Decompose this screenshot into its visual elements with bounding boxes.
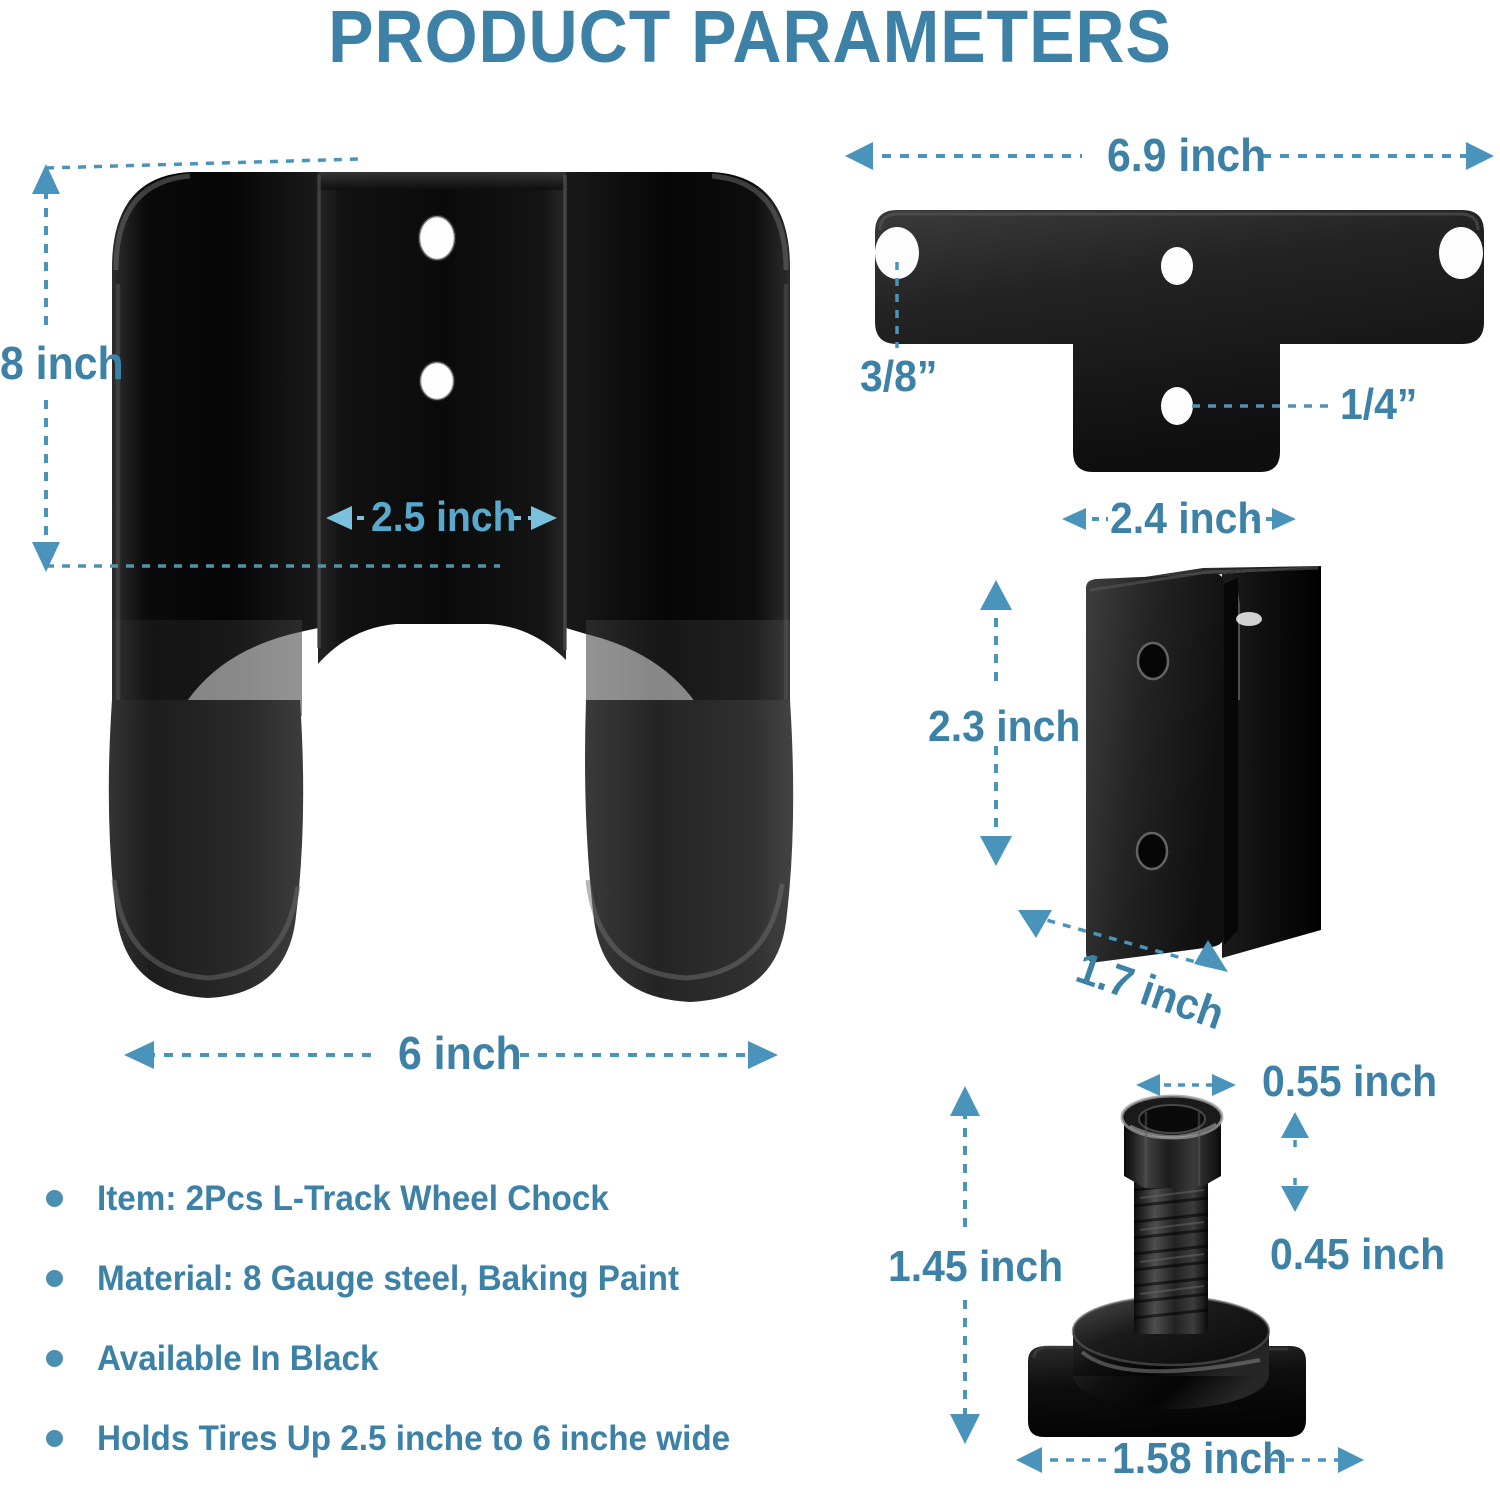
- bullet-icon: [46, 1190, 63, 1207]
- list-item: Material: 8 Gauge steel, Baking Paint: [46, 1238, 906, 1318]
- infographic-canvas: PRODUCT PARAMETERS: [0, 0, 1500, 1490]
- arrow-23inch-down: [980, 836, 1012, 866]
- arrow-25inch-right: [531, 506, 557, 530]
- bolt-washer-top: [1073, 1297, 1269, 1365]
- u-clamp-illustration: [1086, 566, 1321, 962]
- page-title: PRODUCT PARAMETERS: [60, 0, 1440, 79]
- list-item: Holds Tires Up 2.5 inche to 6 inche wide: [46, 1398, 906, 1478]
- arrow-158inch-left: [1016, 1447, 1042, 1473]
- list-item: Item: 2Pcs L-Track Wheel Chock: [46, 1158, 906, 1238]
- clamp-hole-lower: [1137, 833, 1167, 869]
- dim-label-chock-overall-width: 6 inch: [398, 1030, 522, 1076]
- bullet-icon: [46, 1270, 63, 1287]
- arrow-17inch-left: [1018, 910, 1052, 938]
- spec-item-text: Material: 8 Gauge steel, Baking Paint: [97, 1261, 679, 1296]
- dim-label-clamp-height: 2.3 inch: [928, 705, 1080, 749]
- clamp-back-wall: [1222, 566, 1321, 958]
- arrow-158inch-right: [1338, 1447, 1364, 1473]
- arrow-6inch-right: [748, 1041, 778, 1069]
- clamp-front-face: [1086, 574, 1224, 962]
- arrow-24inch-left: [1062, 508, 1086, 530]
- t-bracket-hole-center: [1161, 247, 1193, 285]
- dim-label-tbracket-large-hole: 3/8”: [860, 355, 937, 399]
- arrow-045inch-down: [1281, 1186, 1309, 1212]
- clamp-hole-upper: [1138, 643, 1168, 679]
- arrow-145inch-down: [950, 1414, 980, 1444]
- dim-label-bolt-base-width: 1.58 inch: [1112, 1437, 1287, 1481]
- t-bracket-body: [875, 210, 1484, 472]
- dim-label-clamp-depth: 1.7 inch: [1071, 946, 1229, 1037]
- bolt-nut-collar: [1122, 1096, 1222, 1138]
- arrow-24inch-right: [1272, 508, 1296, 530]
- arrow-17inch-right: [1194, 940, 1228, 972]
- dim-label-bolt-nut-width: 0.55 inch: [1262, 1060, 1437, 1104]
- bullet-icon: [46, 1350, 63, 1367]
- t-bracket-hole-stem: [1161, 387, 1193, 425]
- arrow-055inch-right: [1212, 1074, 1236, 1096]
- list-item: Available In Black: [46, 1318, 906, 1398]
- arrow-055inch-left: [1136, 1074, 1160, 1096]
- dim-label-tbracket-small-hole: 1/4”: [1340, 383, 1417, 427]
- chock-hole-top: [419, 216, 455, 260]
- dim-label-tbracket-stem-width: 2.4 inch: [1110, 497, 1262, 541]
- bolt-base-plate: [1028, 1346, 1306, 1437]
- bolt-hex-nut: [1124, 1110, 1221, 1188]
- dim-label-bolt-total-height: 1.45 inch: [888, 1245, 1063, 1289]
- spec-item-text: Available In Black: [97, 1341, 379, 1376]
- spec-list: Item: 2Pcs L-Track Wheel Chock Material:…: [46, 1158, 906, 1478]
- spec-item-text: Holds Tires Up 2.5 inche to 6 inche wide: [97, 1421, 730, 1456]
- dim-label-tbracket-width: 6.9 inch: [1107, 132, 1266, 178]
- dim-label-chock-channel-width: 2.5 inch: [371, 496, 516, 538]
- bullet-icon: [46, 1430, 63, 1447]
- arrow-25inch-left: [326, 506, 352, 530]
- dim-label-chock-height: 8 inch: [0, 340, 124, 386]
- arrow-045inch-up: [1281, 1112, 1309, 1138]
- bolt-washer-bottom: [1073, 1341, 1269, 1409]
- t-bracket-hole-left: [875, 227, 919, 279]
- t-bracket-hole-right: [1439, 227, 1483, 279]
- wheel-chock-illustration: [109, 172, 793, 1018]
- arrow-145inch-up: [950, 1086, 980, 1116]
- arrow-8inch-down: [32, 542, 60, 572]
- stud-bolt-illustration: [1028, 1096, 1306, 1437]
- arrow-23inch-up: [980, 580, 1012, 610]
- chock-hole-bottom: [420, 362, 454, 400]
- arrow-6inch-left: [124, 1041, 154, 1069]
- spec-item-text: Item: 2Pcs L-Track Wheel Chock: [97, 1181, 609, 1216]
- bolt-threaded-shaft: [1134, 1174, 1208, 1334]
- arrow-69inch-left: [845, 142, 873, 170]
- t-bracket-illustration: [875, 210, 1484, 472]
- arrow-8inch-up: [32, 164, 60, 194]
- clamp-top-web: [1087, 566, 1321, 596]
- arrow-69inch-right: [1466, 142, 1494, 170]
- dim-label-bolt-nut-height: 0.45 inch: [1270, 1233, 1445, 1277]
